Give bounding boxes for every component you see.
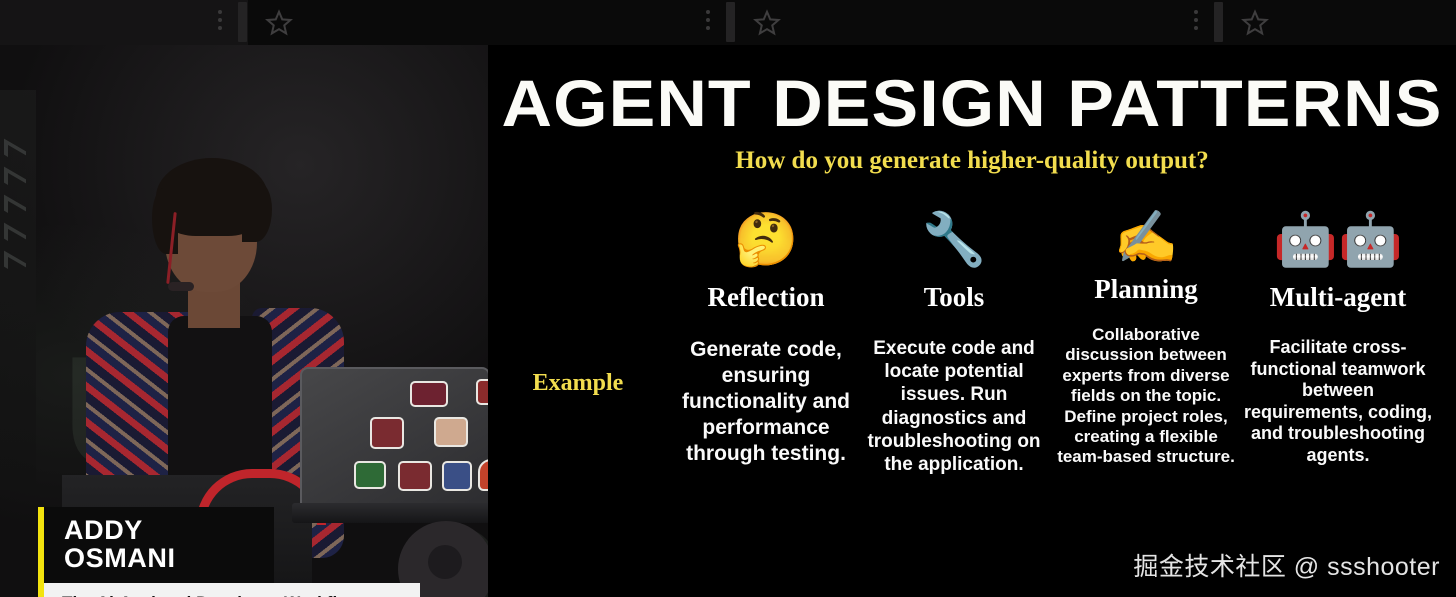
sticker-4	[434, 417, 468, 447]
patterns-grid: Example 🤔 Reflection Generate code, ensu…	[488, 200, 1456, 570]
vertical-dots-icon-3[interactable]	[1194, 10, 1198, 34]
slide-subtitle: How do you generate higher-quality outpu…	[488, 148, 1456, 173]
wrench-emoji: 🔧	[856, 200, 1052, 280]
watermark: 掘金技术社区 @ ssshooter	[1133, 547, 1440, 583]
sticker-6	[398, 461, 432, 491]
column-tools: 🔧 Tools Execute code and locate potentia…	[856, 200, 1052, 476]
lower-third-nameplate: ADDY OSMANI The Ai-Assisted Developer Wo…	[38, 507, 420, 597]
divider-2	[726, 2, 735, 42]
vertical-dots-icon-1[interactable]	[218, 10, 222, 34]
presentation-slide[interactable]: AGENT DESIGN PATTERNS How do you generat…	[488, 45, 1456, 597]
top-toolbar-strip	[0, 0, 1456, 45]
sticker-7	[442, 461, 472, 491]
hair-right	[242, 182, 272, 242]
vertical-dots-icon-2[interactable]	[706, 10, 710, 34]
writing-hand-emoji: ✍️	[1048, 200, 1244, 276]
sticker-1	[410, 381, 448, 407]
column-example-reflection: Generate code, ensuring functionality an…	[668, 337, 864, 467]
column-planning: ✍️ Planning Collaborative discussion bet…	[1048, 200, 1244, 468]
column-heading-multi-agent: Multi-agent	[1240, 284, 1436, 311]
sticker-3	[370, 417, 404, 449]
column-heading-tools: Tools	[856, 284, 1052, 311]
column-example-tools: Execute code and locate potential issues…	[856, 337, 1052, 476]
sticker-8	[478, 459, 488, 491]
screen-root: u o	[0, 0, 1456, 597]
headset-mic-bud	[168, 282, 194, 291]
divider-3	[1214, 2, 1223, 42]
star-outline-icon-3[interactable]	[1240, 8, 1270, 38]
star-outline-icon-1[interactable]	[264, 8, 294, 38]
column-example-multi-agent: Facilitate cross-functional teamwork bet…	[1240, 337, 1436, 467]
row-label-example: Example	[508, 370, 648, 397]
top-panel-2	[736, 0, 1224, 45]
talk-title: The Ai-Assisted Developer Workflow: Buil…	[62, 591, 404, 597]
top-panel-1	[248, 0, 736, 45]
talk-title-block: The Ai-Assisted Developer Workflow: Buil…	[44, 583, 420, 597]
speaker-name: ADDY OSMANI	[64, 516, 256, 573]
slide-title: AGENT DESIGN PATTERNS	[459, 70, 1456, 136]
nameplate-accent-bar	[38, 507, 44, 597]
laptop-lid	[300, 367, 488, 507]
speaker-name-block: ADDY OSMANI	[44, 507, 274, 583]
speaker-video-pane[interactable]: u o	[0, 45, 488, 597]
column-example-planning: Collaborative discussion between experts…	[1048, 325, 1244, 468]
column-heading-reflection: Reflection	[668, 284, 864, 311]
sticker-5	[354, 461, 386, 489]
robot-pair-emoji: 🤖🤖	[1240, 200, 1436, 280]
divider-1	[238, 2, 247, 42]
column-multi-agent: 🤖🤖 Multi-agent Facilitate cross-function…	[1240, 200, 1436, 467]
sticker-2	[476, 379, 488, 405]
star-outline-icon-2[interactable]	[752, 8, 782, 38]
thinking-face-emoji: 🤔	[668, 200, 864, 280]
column-reflection: 🤔 Reflection Generate code, ensuring fun…	[668, 200, 864, 467]
column-heading-planning: Planning	[1048, 276, 1244, 303]
